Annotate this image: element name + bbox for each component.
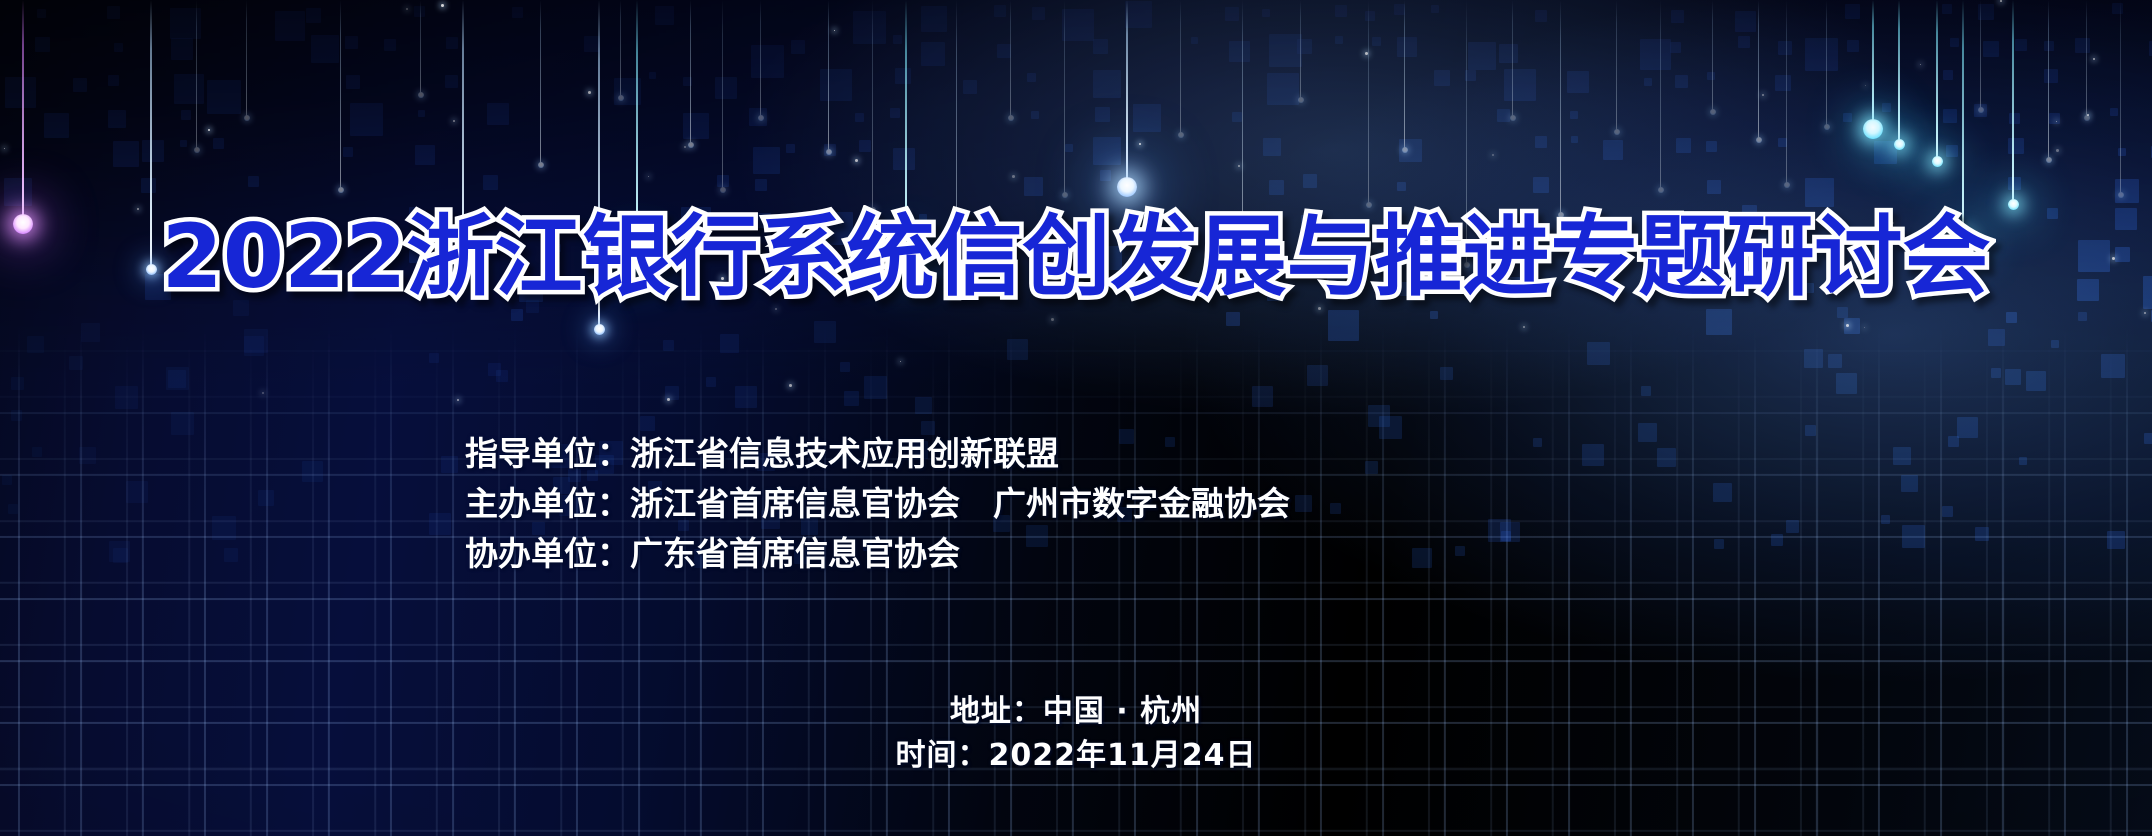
conference-banner: 2022浙江银行系统信创发展与推进专题研讨会 指导单位：浙江省信息技术应用创新联… (0, 0, 2152, 836)
event-location: 地址：中国 · 杭州 (0, 690, 2152, 734)
organizer-line-host: 主办单位：浙江省首席信息官协会 广州市数字金融协会 (465, 482, 1290, 526)
organizer-line-guidance: 指导单位：浙江省信息技术应用创新联盟 (465, 432, 1290, 476)
page-title: 2022浙江银行系统信创发展与推进专题研讨会 (0, 209, 2152, 304)
organizer-line-co-host: 协办单位：广东省首席信息官协会 (465, 532, 1290, 576)
event-date: 时间：2022年11月24日 (0, 734, 2152, 778)
banner-content: 2022浙江银行系统信创发展与推进专题研讨会 指导单位：浙江省信息技术应用创新联… (0, 0, 2152, 836)
organizer-block: 指导单位：浙江省信息技术应用创新联盟 主办单位：浙江省首席信息官协会 广州市数字… (465, 432, 1290, 582)
event-meta-block: 地址：中国 · 杭州 时间：2022年11月24日 (0, 690, 2152, 778)
